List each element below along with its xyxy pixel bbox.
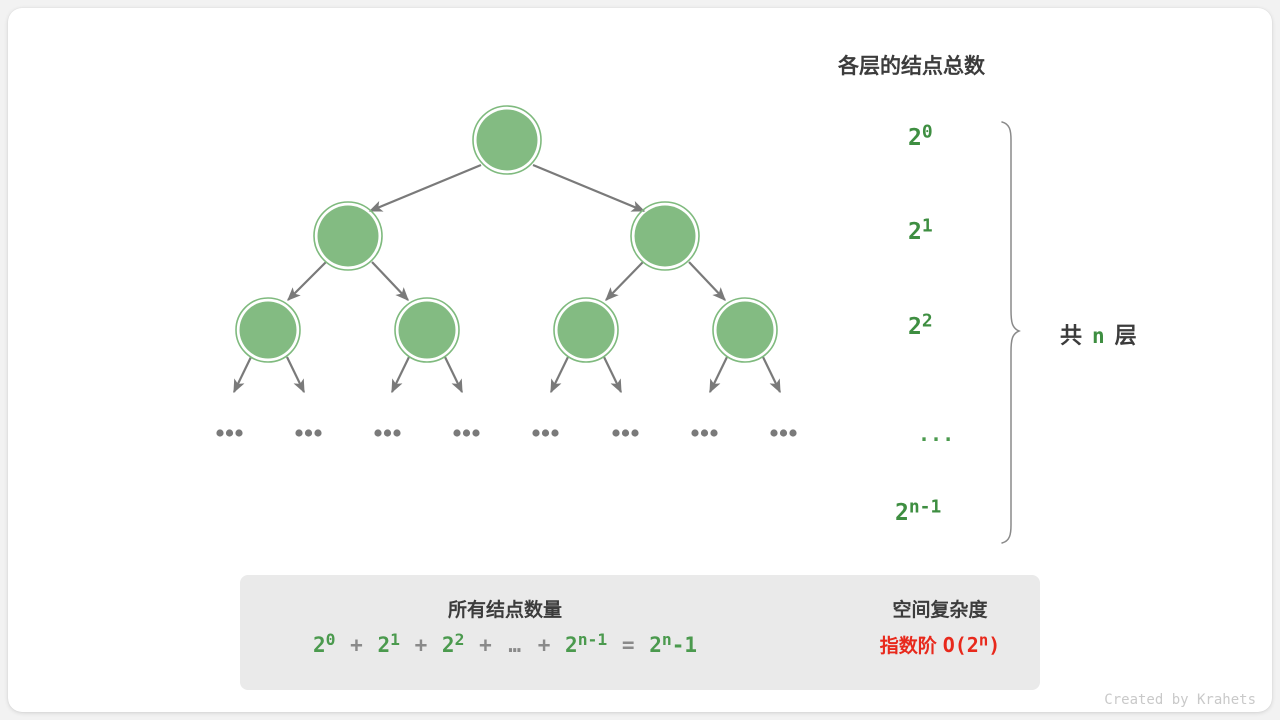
tree-edges: [234, 165, 780, 392]
level-count-1-exp: 1: [922, 215, 933, 236]
level-count-last-exp: n-1: [909, 496, 941, 517]
complexity-value: 指数阶O(2n): [840, 631, 1040, 658]
tree-node-root[interactable]: [473, 106, 541, 174]
leaf-ellipsis: [374, 429, 400, 436]
tree-node-l1-0[interactable]: [314, 202, 382, 270]
complexity-bigo-exp: n: [979, 631, 988, 649]
eq-term-2: 22: [442, 633, 465, 657]
leaf-ellipsis: [691, 429, 717, 436]
eq-ellipsis: …: [506, 633, 523, 657]
edge-l2c-left: [551, 357, 568, 392]
total-layers-suffix: 层: [1115, 318, 1137, 350]
summary-left-title: 所有结点数量: [240, 595, 770, 622]
level-count-ellipsis: ...: [918, 422, 954, 446]
edge-l2b-right: [445, 357, 462, 392]
level-count-1: 21: [908, 219, 933, 245]
eq-term-0-exp: 0: [326, 630, 336, 649]
total-layers-label: 共 n 层: [1060, 318, 1137, 350]
eq-term-2-exp: 2: [455, 630, 465, 649]
edge-l2d-right: [763, 357, 780, 392]
leaf-ellipsis: [612, 429, 638, 436]
level-count-0-exp: 0: [922, 121, 933, 142]
eq-plus-1: +: [413, 633, 430, 657]
tree-node-l2-2[interactable]: [554, 298, 618, 362]
edge-l2c-right: [604, 357, 621, 392]
level-count-0: 20: [908, 125, 933, 151]
levels-brace: [1002, 122, 1019, 543]
summary-left: 所有结点数量 20 + 21 + 22 + … + 2n-1 = 2n-1: [240, 575, 770, 690]
level-count-2-exp: 2: [922, 310, 933, 331]
leaf-ellipsis: [532, 429, 558, 436]
eq-term-1-exp: 1: [390, 630, 400, 649]
eq-result: 2n-1: [649, 633, 697, 657]
eq-plus-2: +: [477, 633, 494, 657]
edge-l2b-left: [392, 357, 409, 392]
edge-l1r-right: [689, 262, 725, 300]
figure-root: 各层的结点总数 20 21 22 ... 2n-1 共 n 层 所有结点数量 2…: [0, 0, 1280, 720]
leaf-ellipsis: [216, 429, 242, 436]
leaf-ellipsis: [453, 429, 479, 436]
levels-column-title: 各层的结点总数: [838, 50, 985, 80]
eq-term-4: 2n-1: [565, 633, 607, 657]
eq-plus-3: +: [536, 633, 553, 657]
edge-l1l-right: [372, 262, 408, 300]
leaf-ellipsis: [295, 429, 321, 436]
complexity-label: 指数阶: [880, 636, 937, 657]
tree-node-l2-0[interactable]: [236, 298, 300, 362]
edge-l2a-left: [234, 357, 251, 392]
eq-result-base: 2: [649, 633, 662, 657]
complexity-bigo-tail: ): [988, 633, 1000, 657]
eq-term-1: 21: [377, 633, 400, 657]
eq-result-exp: n: [662, 630, 672, 649]
edge-root-right: [533, 165, 644, 211]
summary-right-title: 空间复杂度: [840, 595, 1040, 622]
edge-l1l-left: [288, 262, 326, 300]
tree-nodes: [236, 106, 777, 362]
summary-box: 所有结点数量 20 + 21 + 22 + … + 2n-1 = 2n-1 空间…: [240, 575, 1040, 690]
edge-l2a-right: [287, 357, 304, 392]
edge-l1r-left: [606, 262, 643, 300]
eq-term-4-exp: n-1: [578, 630, 608, 649]
total-layers-prefix: 共: [1060, 318, 1082, 350]
tree-leaf-ellipsis-row: [216, 429, 796, 436]
level-count-last: 2n-1: [895, 500, 941, 526]
level-count-2: 22: [908, 314, 933, 340]
eq-equals: =: [620, 633, 637, 657]
edge-root-left: [370, 165, 481, 211]
tree-node-l2-3[interactable]: [713, 298, 777, 362]
tree-node-l2-1[interactable]: [395, 298, 459, 362]
summary-equation: 20 + 21 + 22 + … + 2n-1 = 2n-1: [240, 633, 770, 657]
leaf-ellipsis: [770, 429, 796, 436]
eq-term-0: 20: [313, 633, 336, 657]
eq-plus-0: +: [348, 633, 365, 657]
complexity-bigo: O(2n): [937, 633, 1001, 657]
total-layers-variable: n: [1092, 324, 1105, 348]
complexity-bigo-base: O(2: [943, 633, 979, 657]
eq-result-tail: -1: [672, 633, 697, 657]
edge-l2d-left: [710, 357, 727, 392]
tree-node-l1-1[interactable]: [631, 202, 699, 270]
credit-text: Created by Krahets: [1104, 692, 1256, 708]
summary-right: 空间复杂度 指数阶O(2n): [840, 575, 1040, 690]
